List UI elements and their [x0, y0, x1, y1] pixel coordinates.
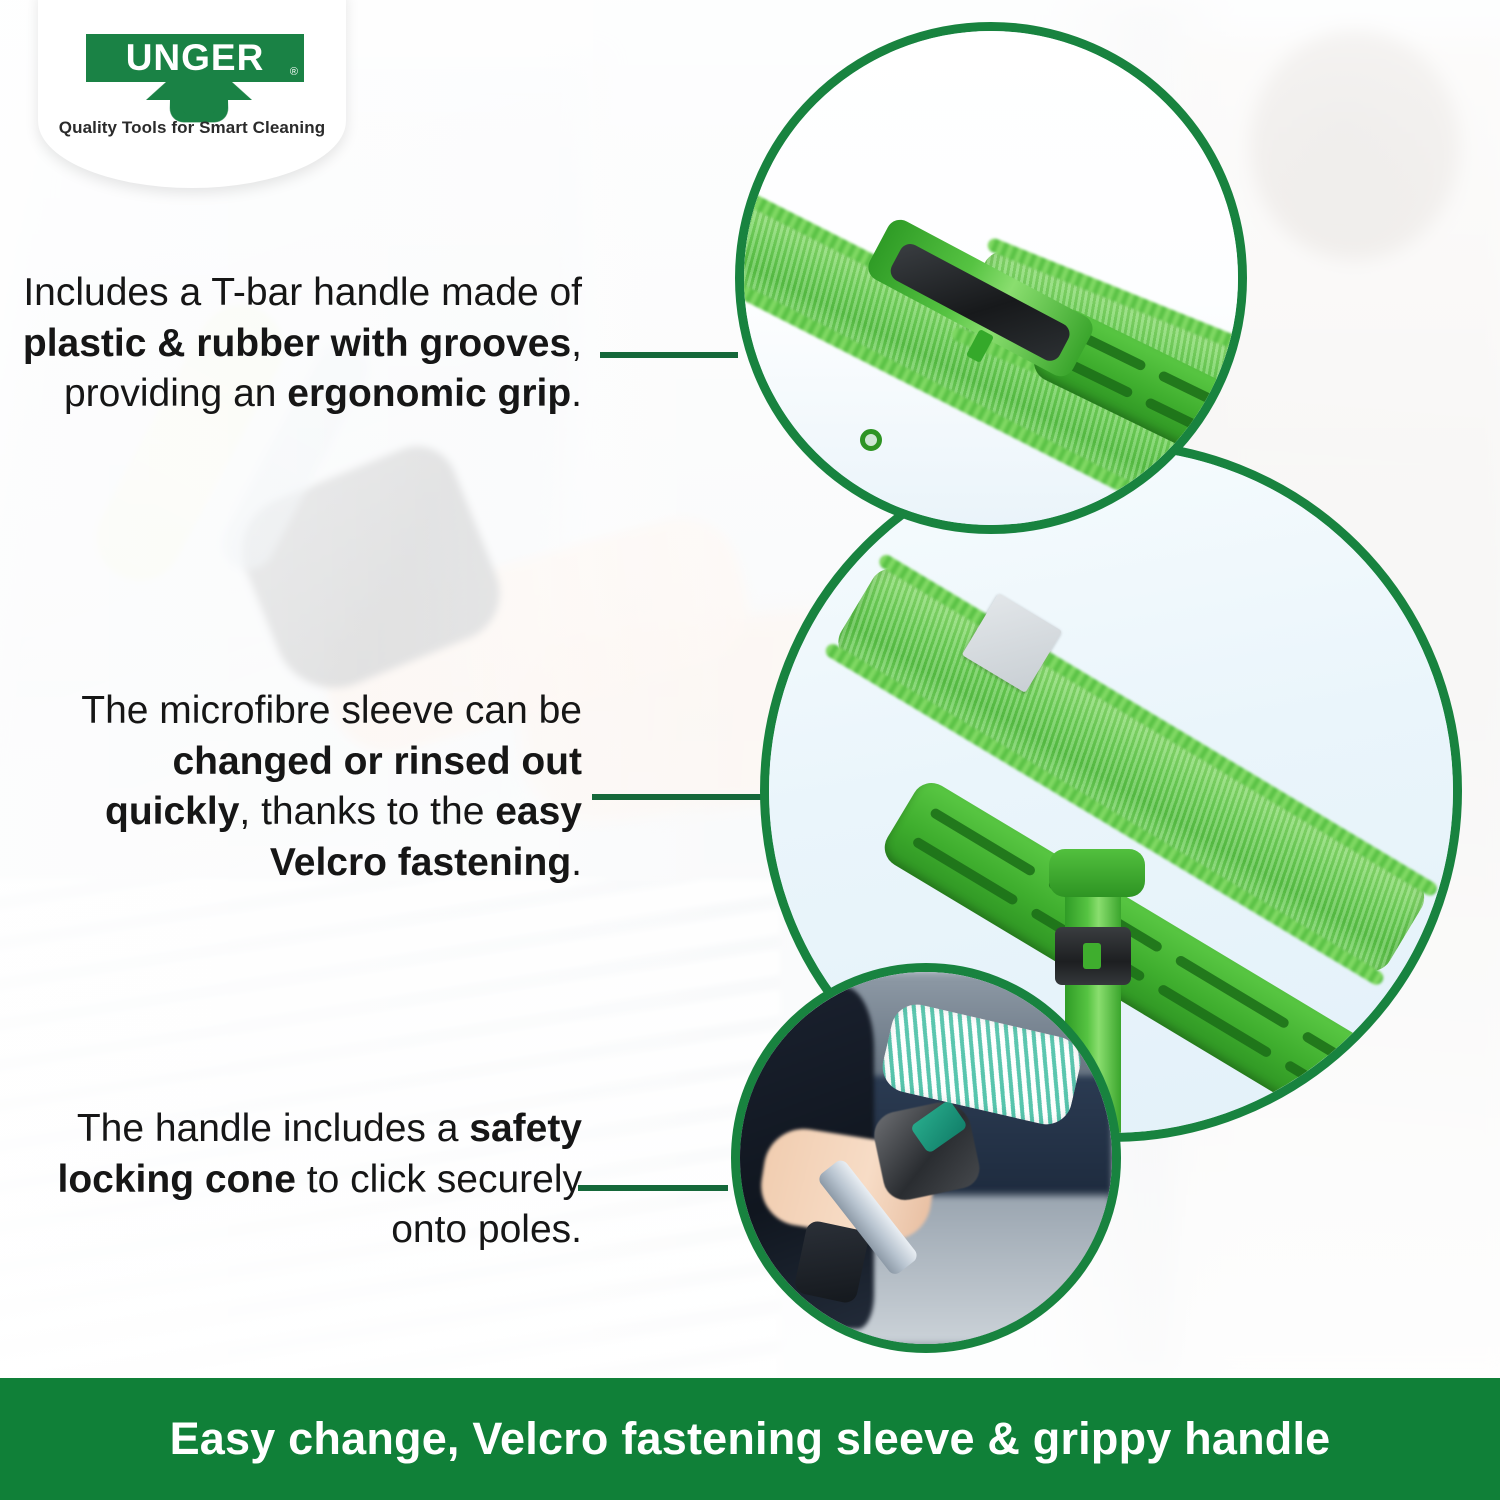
feature-text-fragment: . [571, 372, 582, 415]
t-bar-groove [1283, 1059, 1357, 1109]
callout-3-photo [740, 972, 1112, 1344]
infographic-canvas: UNGER ® Quality Tools for Smart Cleaning… [0, 0, 1500, 1500]
feature-text-safety-locking-cone: The handle includes a safety locking con… [22, 1104, 582, 1256]
feature-text-fragment: The microfibre sleeve can be [81, 689, 582, 732]
registered-mark-icon: ® [290, 66, 298, 78]
feature-text-fragment: ergonomic grip [287, 372, 571, 415]
logo-green-bar: UNGER ® [86, 34, 304, 82]
brand-logo-tab: UNGER ® Quality Tools for Smart Cleaning [38, 0, 346, 188]
t-junction-boss [1049, 849, 1145, 897]
connector-line-3 [578, 1185, 728, 1191]
hang-hole [860, 429, 882, 451]
feature-text-microfibre-sleeve: The microfibre sleeve can be changed or … [22, 686, 582, 889]
feature-text-fragment: . [571, 841, 582, 884]
connector-line-2 [592, 794, 770, 800]
feature-text-fragment: plastic & rubber with grooves [23, 322, 571, 365]
feature-text-t-bar-handle: Includes a T-bar handle made of plastic … [22, 268, 582, 420]
unger-logo-mark: UNGER ® [86, 34, 304, 112]
connector-line-1 [600, 352, 738, 358]
feature-text-fragment: The handle includes a [77, 1107, 469, 1150]
brand-tagline: Quality Tools for Smart Cleaning [38, 118, 346, 138]
banner-headline: Easy change, Velcro fastening sleeve & g… [170, 1413, 1331, 1465]
logo-g-cutout [182, 80, 216, 116]
feature-text-fragment: , thanks to the [239, 790, 495, 833]
callout-circle-pole-locking [731, 963, 1121, 1353]
feature-text-fragment: to click securely onto poles. [296, 1158, 582, 1252]
feature-text-fragment: Includes a T-bar handle made of [23, 271, 582, 314]
callout-circle-t-bar-grip [735, 22, 1247, 534]
locking-cone-tab [1083, 943, 1101, 969]
brand-name: UNGER [86, 34, 304, 82]
bottom-banner: Easy change, Velcro fastening sleeve & g… [0, 1378, 1500, 1500]
